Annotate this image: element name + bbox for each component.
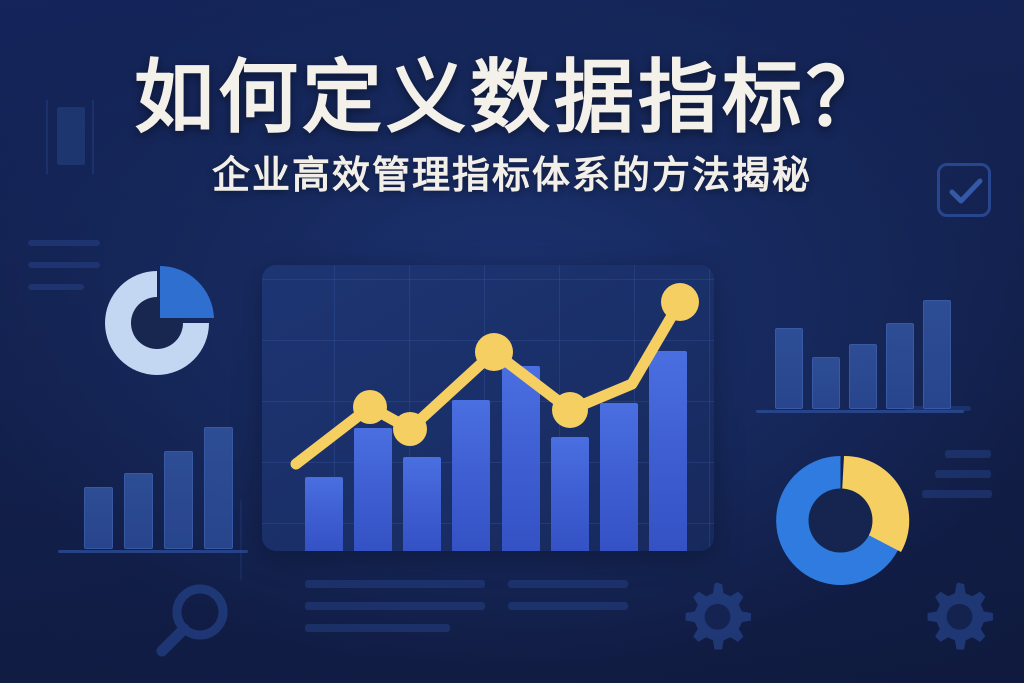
left-pie-chart: [92, 258, 222, 393]
trend-line: [296, 302, 680, 464]
deco-line: [28, 240, 100, 246]
bar: [886, 323, 914, 409]
bar: [204, 427, 233, 549]
bar: [84, 487, 113, 549]
bar: [923, 300, 951, 409]
deco-line: [305, 580, 485, 588]
page-title: 如何定义数据指标？: [0, 56, 1024, 140]
gear-icon-hole: [947, 604, 973, 630]
infographic-banner: 如何定义数据指标？ 企业高效管理指标体系的方法揭秘: [0, 0, 1024, 683]
search-icon: [148, 580, 236, 673]
data-point: [393, 412, 427, 446]
deco-line: [28, 262, 100, 268]
deco-line: [935, 470, 991, 478]
deco-divider: [240, 500, 242, 580]
data-point: [475, 333, 513, 371]
donut-hole: [809, 489, 873, 553]
page-subtitle: 企业高效管理指标体系的方法揭秘: [0, 154, 1024, 200]
pie-slice-minor: [160, 266, 214, 318]
data-point: [661, 283, 699, 321]
main-combo-chart: [262, 265, 714, 551]
bar: [849, 344, 877, 409]
deco-line: [508, 602, 628, 610]
deco-line: [922, 490, 992, 498]
gear-icon: [920, 578, 996, 659]
deco-line: [28, 284, 84, 290]
axis-baseline: [58, 550, 248, 553]
title-block: 如何定义数据指标？ 企业高效管理指标体系的方法揭秘: [0, 56, 1024, 200]
deco-line: [305, 602, 485, 610]
bar: [164, 451, 193, 549]
gear-icon: [678, 578, 754, 659]
deco-line: [508, 580, 628, 588]
right-donut-chart: [768, 448, 913, 598]
bar: [124, 473, 153, 549]
bar: [775, 328, 803, 409]
deco-line: [305, 624, 450, 632]
search-icon-handle: [162, 629, 184, 651]
trend-line-series: [262, 265, 714, 551]
bar: [812, 357, 840, 409]
gear-icon-hole: [705, 604, 731, 630]
axis-baseline: [756, 410, 964, 413]
data-point: [552, 392, 588, 428]
deco-line: [945, 450, 991, 458]
data-point: [353, 390, 387, 424]
